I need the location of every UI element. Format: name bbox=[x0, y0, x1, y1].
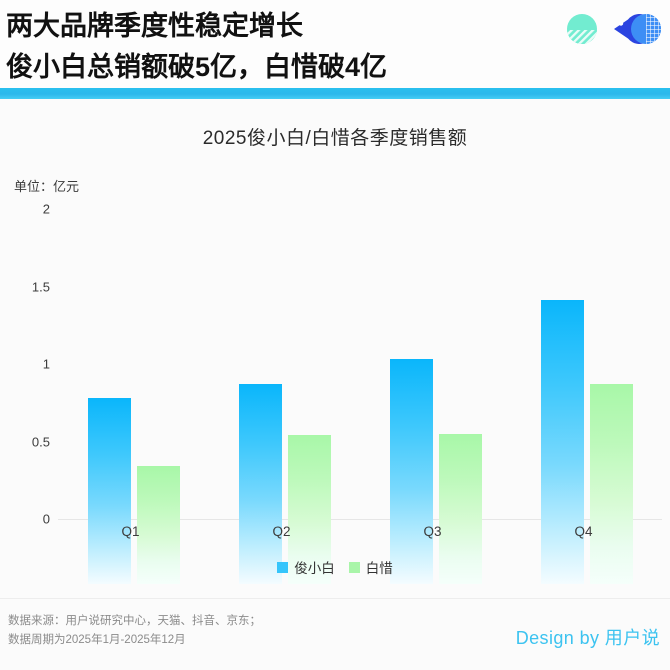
brand-logo bbox=[566, 13, 662, 45]
bar-q3-junxiaobai[interactable] bbox=[390, 359, 433, 584]
bar-group-q1 bbox=[88, 164, 180, 584]
page-header: 两大品牌季度性稳定增长 俊小白总销额破5亿，白惜破4亿 bbox=[0, 0, 670, 88]
page-footer: 数据来源：用户说研究中心，天猫、抖音、京东； 数据周期为2025年1月-2025… bbox=[0, 598, 670, 670]
legend-item-junxiaobai[interactable]: 俊小白 bbox=[277, 557, 335, 577]
headline-line-2: 俊小白总销额破5亿，白惜破4亿 bbox=[6, 47, 670, 87]
logo-blue-grid-circle bbox=[631, 14, 662, 44]
legend-item-baixi[interactable]: 白惜 bbox=[349, 557, 393, 577]
footer-divider bbox=[0, 598, 670, 599]
data-source-line-2: 数据周期为2025年1月-2025年12月 bbox=[8, 631, 261, 650]
y-axis-tick-1: 0.5 bbox=[6, 434, 50, 449]
bar-group-q4 bbox=[541, 164, 633, 584]
chart-container: 2025俊小白/白惜各季度销售额 单位：亿元 00.511.52 Q1Q2Q3Q… bbox=[0, 99, 670, 584]
data-source-note: 数据来源：用户说研究中心，天猫、抖音、京东； 数据周期为2025年1月-2025… bbox=[8, 612, 261, 650]
bar-group-q3 bbox=[390, 164, 482, 584]
data-source-line-1: 数据来源：用户说研究中心，天猫、抖音、京东； bbox=[8, 612, 261, 631]
design-credit: Design by 用户说 bbox=[516, 624, 660, 650]
chart-legend: 俊小白白惜 bbox=[0, 557, 670, 577]
legend-swatch-icon bbox=[277, 562, 288, 573]
header-divider-bar bbox=[0, 88, 670, 99]
bar-q4-junxiaobai[interactable] bbox=[541, 300, 584, 584]
x-axis-label-q4: Q4 bbox=[538, 524, 630, 539]
bars-area bbox=[58, 99, 662, 584]
y-axis-tick-4: 2 bbox=[6, 202, 50, 217]
legend-swatch-icon bbox=[349, 562, 360, 573]
x-axis-label-q1: Q1 bbox=[85, 524, 177, 539]
y-axis-tick-0: 0 bbox=[6, 512, 50, 527]
logo-mint-striped-circle bbox=[567, 14, 597, 44]
legend-label: 白惜 bbox=[366, 557, 393, 577]
bar-group-q2 bbox=[239, 164, 331, 584]
bar-q4-baixi[interactable] bbox=[590, 384, 633, 584]
x-axis-label-q3: Q3 bbox=[387, 524, 479, 539]
y-axis-tick-3: 1.5 bbox=[6, 279, 50, 294]
plot-area: 00.511.52 Q1Q2Q3Q4 bbox=[0, 99, 670, 584]
bar-q2-junxiaobai[interactable] bbox=[239, 384, 282, 584]
y-axis-tick-2: 1 bbox=[6, 357, 50, 372]
legend-label: 俊小白 bbox=[294, 557, 335, 577]
x-axis-label-q2: Q2 bbox=[236, 524, 328, 539]
